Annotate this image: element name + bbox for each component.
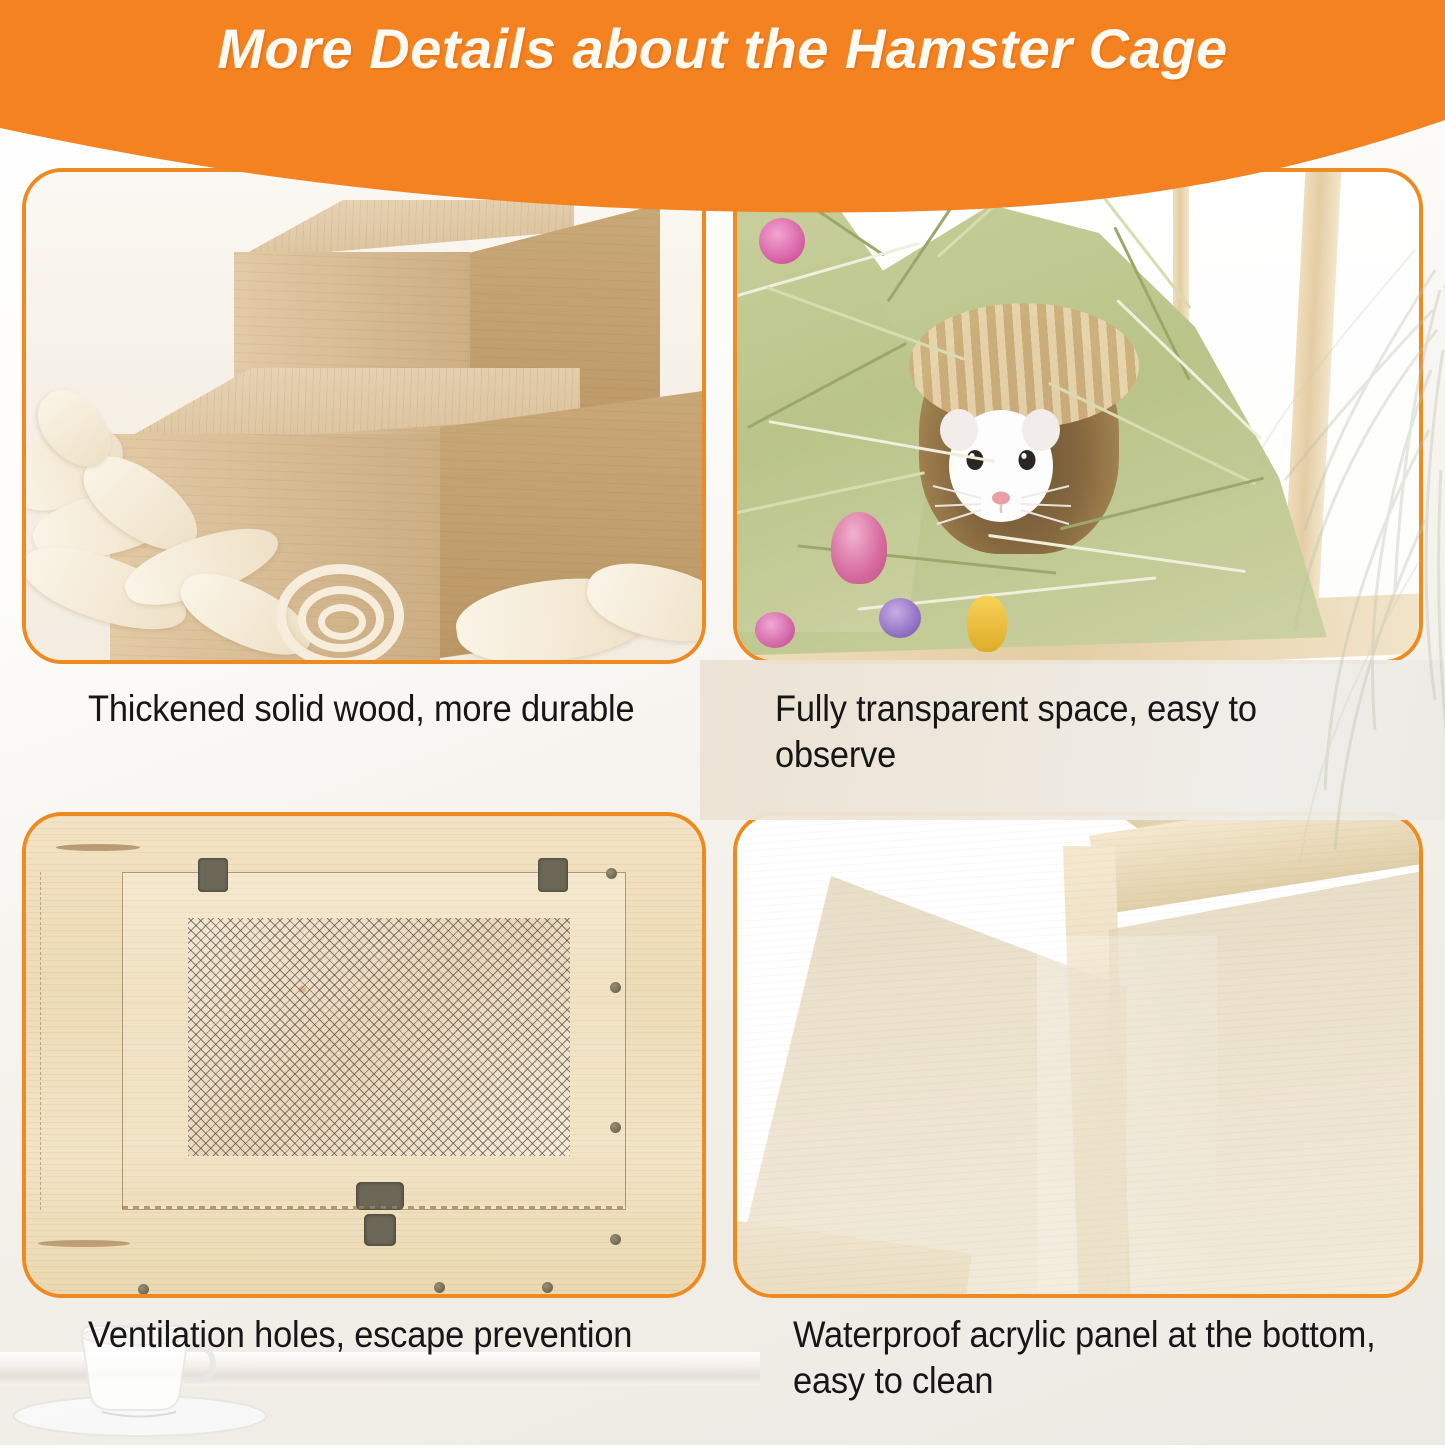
feature-image-waterproof-acrylic-panel[interactable]	[733, 812, 1423, 1298]
wood-blocks-photo	[26, 172, 702, 660]
wood-shaving-coil	[318, 604, 366, 640]
dried-flower-pink	[759, 218, 805, 264]
wood-knot	[56, 844, 140, 851]
wood-knot	[38, 1240, 130, 1247]
screw	[138, 1284, 149, 1294]
ventilation-mesh-panel	[188, 918, 570, 1156]
feature-image-thickened-solid-wood[interactable]	[22, 168, 706, 664]
feature-caption-thickened-solid-wood: Thickened solid wood, more durable	[88, 686, 683, 732]
feature-caption-waterproof-acrylic-panel: Waterproof acrylic panel at the bottom, …	[793, 1312, 1388, 1403]
dried-flower-rose	[831, 512, 887, 584]
wood-scene	[26, 172, 702, 660]
screw	[606, 868, 617, 879]
feature-image-ventilation-holes[interactable]	[22, 812, 706, 1298]
screw	[610, 1234, 621, 1245]
door-latch-hook	[364, 1214, 396, 1246]
screw	[610, 1122, 621, 1133]
screw	[610, 982, 621, 993]
screw	[434, 1282, 445, 1293]
door-panel-shadow-edge	[40, 872, 50, 1210]
dried-flower-magenta	[755, 612, 795, 648]
ventilation-door-photo	[26, 816, 702, 1294]
door-scene	[26, 816, 702, 1294]
feature-caption-fully-transparent-space: Fully transparent space, easy to observe	[775, 686, 1380, 777]
dried-flower-yellow	[967, 596, 1007, 652]
screw	[542, 1282, 553, 1293]
page-title: More Details about the Hamster Cage	[0, 16, 1445, 81]
feature-caption-ventilation-holes: Ventilation holes, escape prevention	[88, 1312, 683, 1358]
door-bottom-seam	[122, 1206, 626, 1209]
door-hinge-top-left	[198, 858, 228, 892]
dried-flower-purple	[879, 598, 921, 638]
door-hinge-top-right	[538, 858, 568, 892]
acrylic-scene	[737, 816, 1419, 1294]
hamster	[923, 394, 1083, 544]
acrylic-highlight	[1037, 936, 1217, 1294]
acrylic-panel-photo	[737, 816, 1419, 1294]
